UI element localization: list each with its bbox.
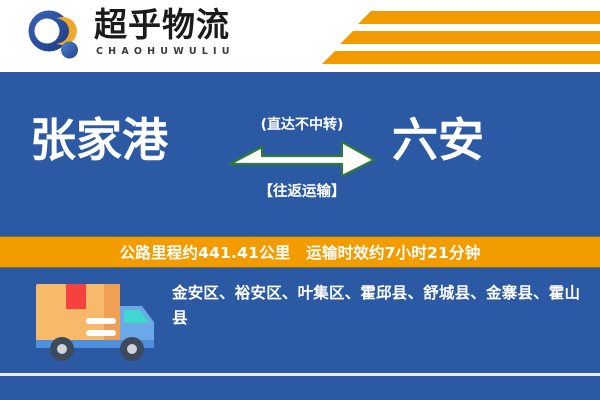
stripe-1 <box>358 11 600 24</box>
coverage-panel: 金安区、裕安区、叶集区、霍邱县、舒城县、金寨县、霍山县 <box>0 268 600 373</box>
coverage-areas-text: 金安区、裕安区、叶集区、霍邱县、舒城县、金寨县、霍山县 <box>172 281 584 331</box>
company-name: 超乎物流 <box>94 8 274 42</box>
route-arrow-block: (直达不中转) 【往返运输】 <box>228 114 376 214</box>
stripe-2 <box>340 31 600 44</box>
delivery-truck-icon <box>30 278 166 364</box>
double-headed-arrow-icon <box>228 136 376 176</box>
logistics-route-banner: 超乎物流 CHAOHUWULIU 张家港 (直达不中转) 【往返运输】 六安 公… <box>0 0 600 400</box>
route-panel: 张家港 (直达不中转) 【往返运输】 六安 <box>0 72 600 236</box>
origin-city: 张家港 <box>30 114 168 166</box>
distance-duration-text: 公路里程约441.41公里 运输时效约7小时21分钟 <box>120 241 481 263</box>
direct-service-label: (直达不中转) <box>228 114 376 134</box>
circle-crescent-logo-icon <box>26 10 80 60</box>
banner-header: 超乎物流 CHAOHUWULIU <box>0 0 600 68</box>
stripe-3 <box>322 51 600 64</box>
header-stripes-decoration <box>340 8 600 64</box>
destination-city: 六安 <box>392 114 484 166</box>
roundtrip-label: 【往返运输】 <box>228 180 376 201</box>
route-info-bar: 公路里程约441.41公里 运输时效约7小时21分钟 <box>0 236 600 268</box>
footer-strip <box>0 376 600 400</box>
company-pinyin: CHAOHUWULIU <box>96 46 235 57</box>
